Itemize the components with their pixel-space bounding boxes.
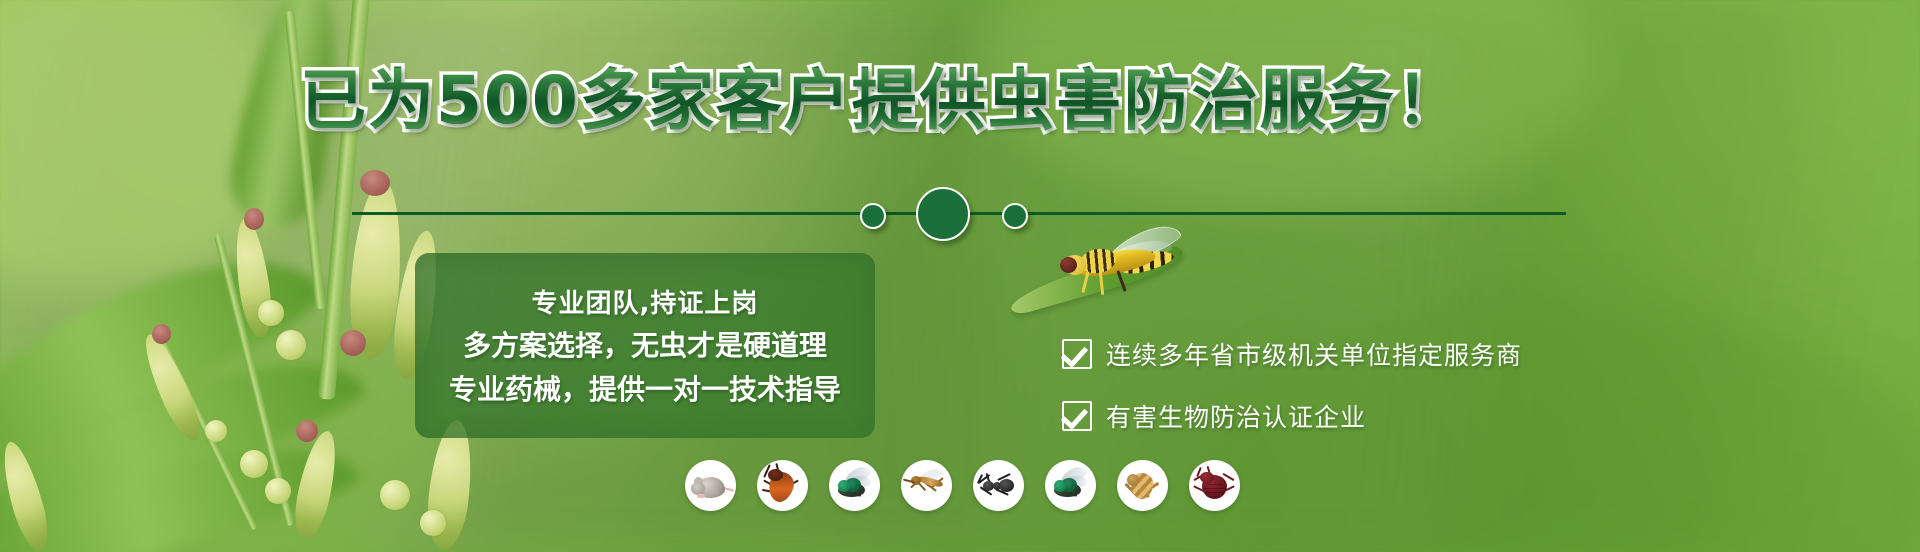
mouse-icon[interactable] (685, 460, 736, 511)
pest-icon-row (685, 460, 1240, 511)
decorative-dots (860, 185, 1042, 241)
certification-checklist: 连续多年省市级机关单位指定服务商 有害生物防治认证企业 (1062, 336, 1522, 460)
cockroach-icon[interactable] (757, 460, 808, 511)
dot-small-right (1002, 203, 1028, 229)
head (768, 469, 783, 481)
check-box-icon (1062, 401, 1092, 431)
head (838, 480, 850, 492)
bedbug-icon[interactable] (1189, 460, 1240, 511)
foot (697, 494, 705, 498)
head (1127, 474, 1139, 486)
hoverfly-on-leaf-photo (1010, 235, 1210, 330)
selling-point-line-2: 多方案选择，无虫才是硬道理 (463, 324, 827, 364)
compound-eye (1060, 257, 1077, 273)
page-title: 已为500多家客户提供虫害防治服务！ (300, 68, 1464, 134)
dot-small-left (860, 203, 886, 229)
selling-points-text: 专业团队,持证上岗 多方案选择，无虫才是硬道理 专业药械，提供一对一技术指导 (415, 253, 875, 438)
check-box-icon (1062, 339, 1092, 369)
ant-icon[interactable] (973, 460, 1024, 511)
mosquito-icon[interactable] (901, 460, 952, 511)
pest-control-banner: 已为500多家客户提供虫害防治服务！ 已为500多家客户提供虫害防治服务！ 专业… (0, 0, 1920, 552)
head (1054, 480, 1066, 492)
selling-point-line-3: 专业药械，提供一对一技术指导 (449, 368, 841, 408)
checklist-label: 有害生物防治认证企业 (1106, 398, 1366, 434)
head (1200, 472, 1214, 483)
housefly-icon[interactable] (829, 460, 880, 511)
checklist-label: 连续多年省市级机关单位指定服务商 (1106, 336, 1522, 372)
flea-icon[interactable] (1117, 460, 1168, 511)
dot-large-center (916, 187, 970, 241)
abdomen (999, 479, 1014, 492)
selling-point-line-1: 专业团队,持证上岗 (532, 283, 759, 320)
list-item: 连续多年省市级机关单位指定服务商 (1062, 336, 1522, 372)
list-item: 有害生物防治认证企业 (1062, 398, 1522, 434)
blowfly-icon[interactable] (1045, 460, 1096, 511)
abdomen-segments (1204, 482, 1225, 497)
